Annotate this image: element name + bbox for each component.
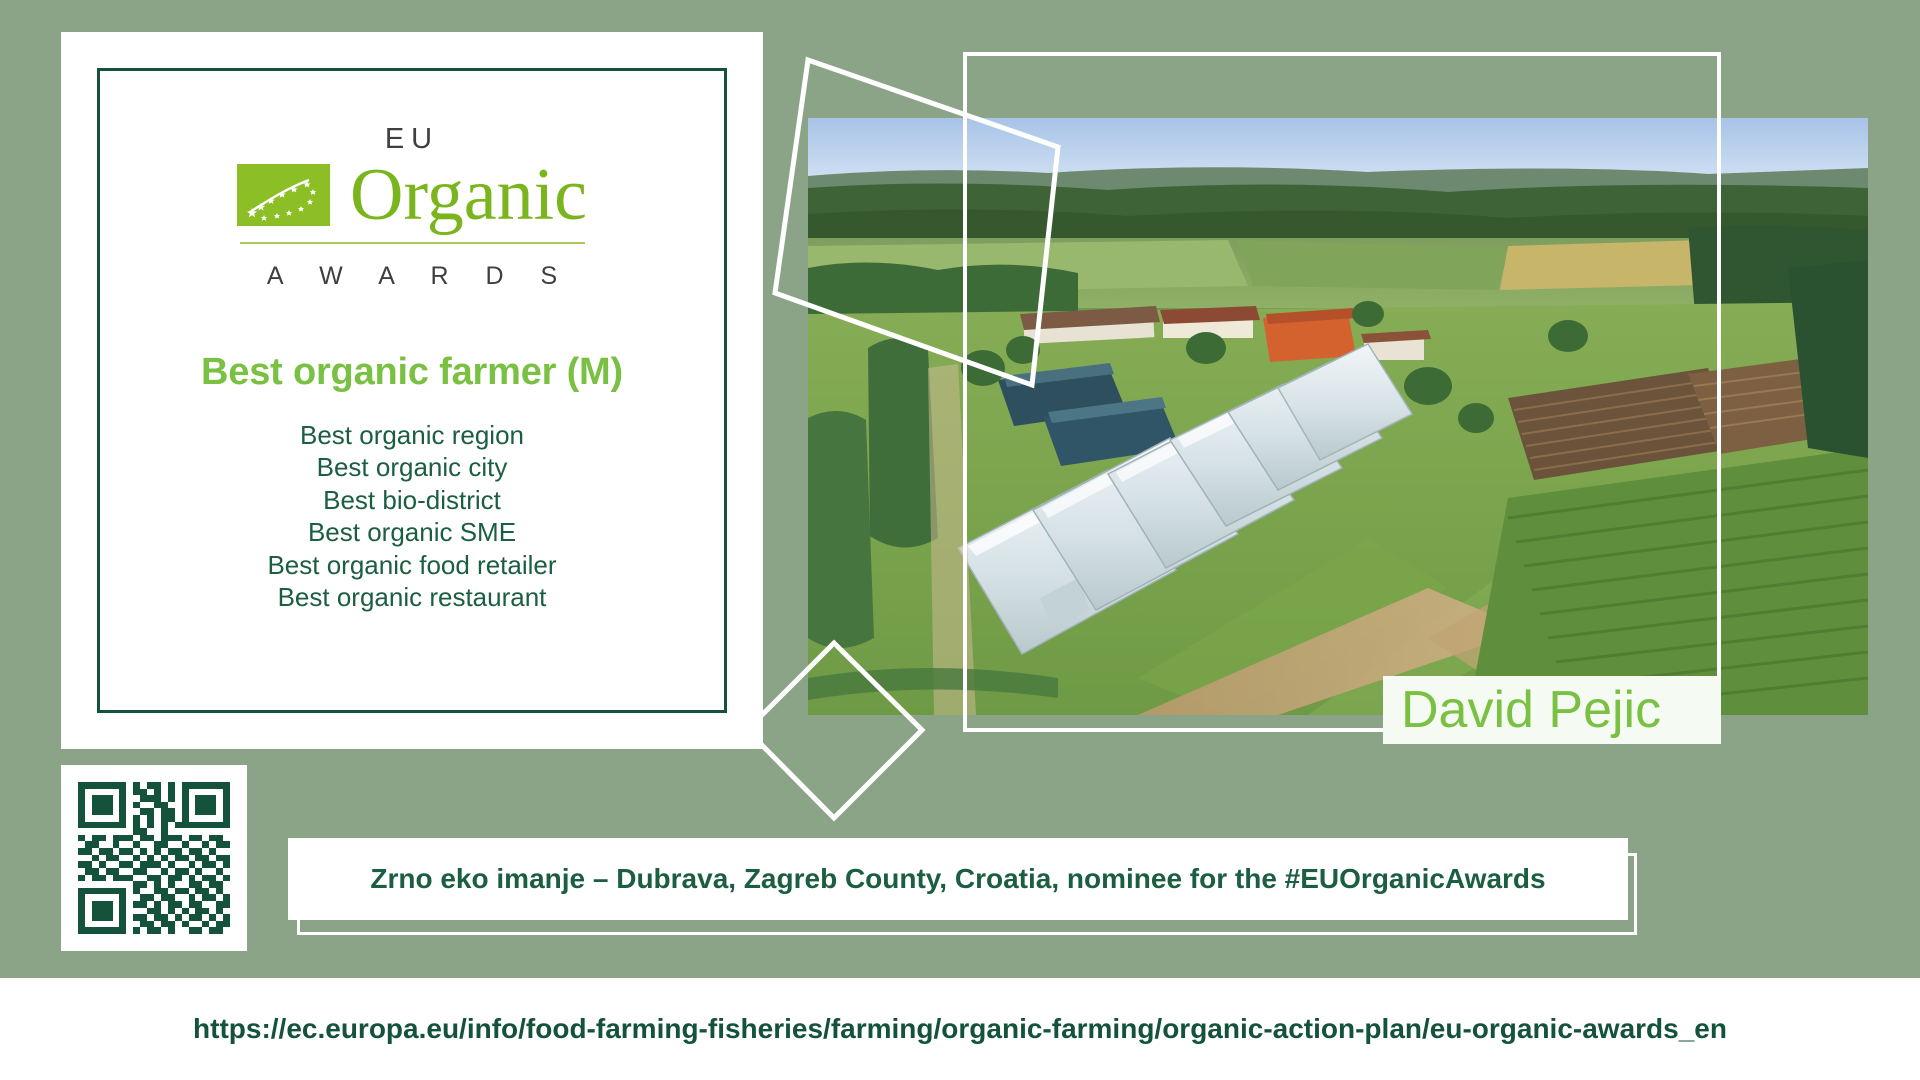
award-card: EU bbox=[61, 32, 763, 749]
eu-organic-leaf-icon bbox=[237, 164, 330, 226]
award-card-border: EU bbox=[97, 68, 727, 713]
farm-photo bbox=[808, 118, 1868, 715]
other-categories-list: Best organic region Best organic city Be… bbox=[100, 419, 724, 613]
caption-bar: Zrno eko imanje – Dubrava, Zagreb County… bbox=[288, 838, 1628, 920]
category-item: Best organic SME bbox=[100, 516, 724, 548]
logo-awards-text: A W A R D S bbox=[100, 262, 724, 291]
nominee-name-band: David Pejic bbox=[1383, 676, 1721, 744]
logo-eu-text: EU bbox=[100, 123, 724, 156]
eu-organic-awards-logo: EU bbox=[100, 123, 724, 291]
logo-divider bbox=[240, 242, 585, 244]
footer-bar: https://ec.europa.eu/info/food-farming-f… bbox=[0, 978, 1920, 1080]
logo-organic-text: Organic bbox=[350, 160, 587, 230]
poster-root: David Pejic EU bbox=[0, 0, 1920, 1080]
category-item: Best bio-district bbox=[100, 484, 724, 516]
nominee-name: David Pejic bbox=[1401, 684, 1661, 736]
qr-code-icon[interactable] bbox=[78, 782, 230, 934]
award-categories: Best organic farmer (M) Best organic reg… bbox=[100, 351, 724, 613]
category-item: Best organic restaurant bbox=[100, 581, 724, 613]
qr-code-block[interactable] bbox=[61, 765, 247, 951]
category-item: Best organic region bbox=[100, 419, 724, 451]
caption-text: Zrno eko imanje – Dubrava, Zagreb County… bbox=[370, 863, 1545, 895]
awards-url[interactable]: https://ec.europa.eu/info/food-farming-f… bbox=[193, 1013, 1727, 1045]
category-item: Best organic food retailer bbox=[100, 549, 724, 581]
category-item: Best organic city bbox=[100, 451, 724, 483]
winning-category: Best organic farmer (M) bbox=[100, 351, 724, 394]
